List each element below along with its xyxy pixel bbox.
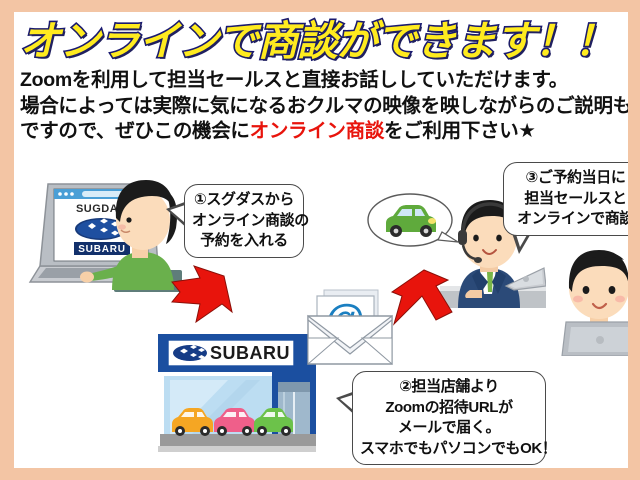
callout-step-3-line-2: 担当セールスと	[511, 189, 628, 210]
intro-paragraph: Zoomを利用して担当セールスと直接お話ししていただけます。 場合によっては実際…	[20, 68, 628, 145]
callout-step-1-line-2: オンライン商談の	[192, 211, 296, 232]
callout-step-3-line-1: ③ご予約当日に	[511, 168, 628, 189]
arrow-up-right-icon	[390, 262, 466, 334]
intro-line-2: 場合によっては実際に気になるおクルマの映像を映しながらのご説明も可能	[20, 94, 628, 120]
shop-sign-text: SUBARU	[210, 343, 290, 363]
illustration-customer-at-laptop: SUGDAS SUBARU	[26, 162, 186, 292]
callout-step-1-line-1: ①スグダスから	[192, 190, 296, 211]
intro-line-3: ですので、ぜひこの機会にオンライン商談をご利用下さい★	[20, 119, 628, 145]
email-envelope-icon: @	[304, 284, 396, 368]
callout-step-2-line-3: メールで届く。	[360, 418, 538, 439]
arrow-down-right-icon	[166, 264, 252, 336]
callout-step-2-line-4: スマホでもパソコンでもOK！	[360, 439, 538, 460]
intro-line-1: Zoomを利用して担当セールスと直接お話ししていただけます。	[20, 68, 628, 94]
intro-line-3-highlight: オンライン商談	[250, 120, 384, 142]
callout-step-2-line-1: ②担当店舗より	[360, 377, 538, 398]
intro-line-3-suffix: をご利用下さい★	[384, 120, 536, 142]
illustration-customer-right	[552, 244, 628, 356]
laptop-screen-logo-text: SUBARU	[78, 244, 126, 255]
callout-step-3: ③ご予約当日に 担当セールスと オンラインで商談	[503, 162, 628, 236]
illustration-subaru-dealership: SUBARU	[150, 324, 328, 468]
page-title: オンラインで商談ができます！！	[20, 16, 626, 66]
callout-step-1-line-3: 予約を入れる	[192, 231, 296, 252]
callout-step-2-line-2: Zoomの招待URLが	[360, 398, 538, 419]
poster-canvas: オンラインで商談ができます！！ Zoomを利用して担当セールスと直接お話ししてい…	[14, 12, 628, 468]
callout-step-2: ②担当店舗より Zoomの招待URLが メールで届く。 スマホでもパソコンでもO…	[352, 371, 546, 465]
intro-line-3-prefix: ですので、ぜひこの機会に	[20, 120, 250, 142]
poster-border: オンラインで商談ができます！！ Zoomを利用して担当セールスと直接お話ししてい…	[0, 0, 640, 480]
callout-step-1: ①スグダスから オンライン商談の 予約を入れる	[184, 184, 304, 258]
callout-step-3-line-3: オンラインで商談	[511, 209, 628, 230]
